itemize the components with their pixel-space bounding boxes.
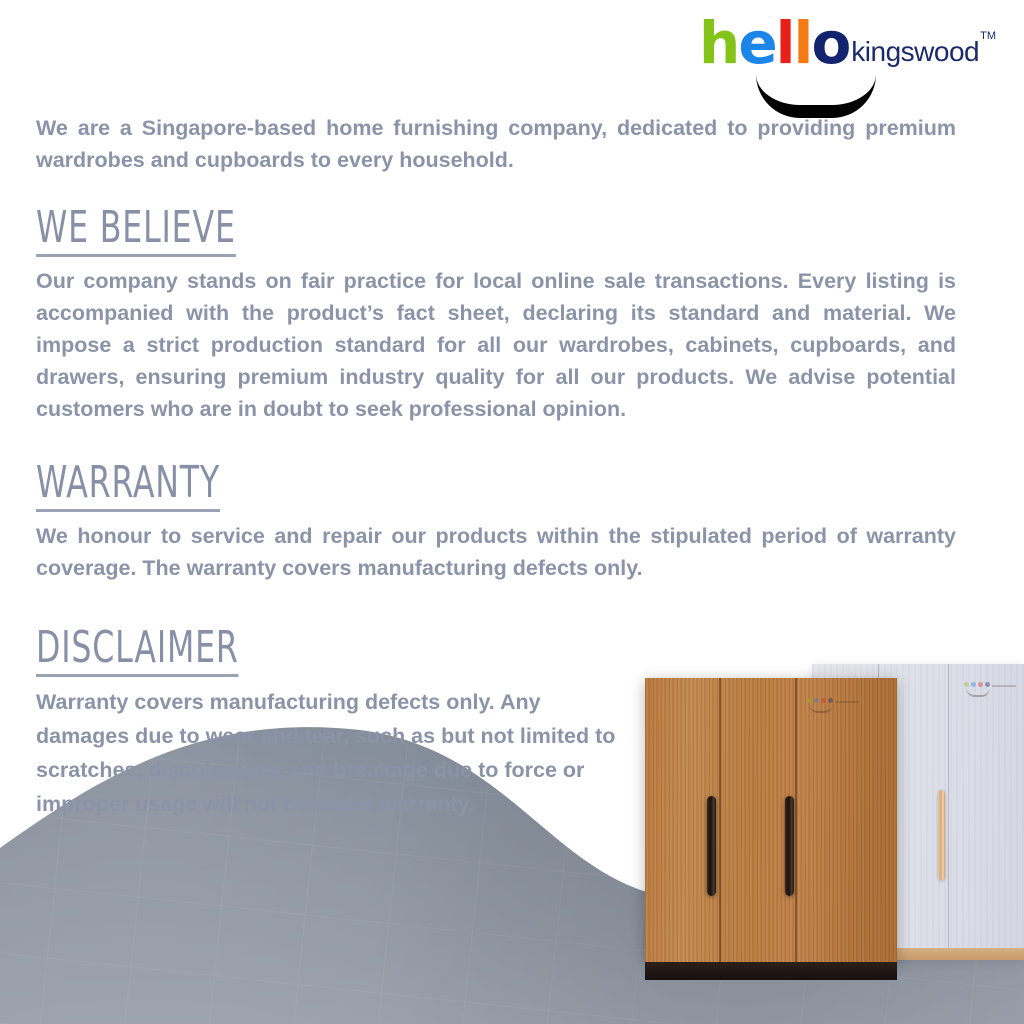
trademark-symbol: TM [980, 30, 996, 42]
wardrobe-white-logo-badge [962, 680, 1018, 700]
intro-paragraph: We are a Singapore-based home furnishing… [36, 112, 956, 176]
section-disclaimer: DISCLAIMER Warranty covers manufacturing… [36, 624, 956, 821]
section-warranty: WARRANTY We honour to service and repair… [36, 459, 956, 584]
heading-warranty: WARRANTY [36, 459, 220, 512]
brand-logo[interactable]: hello kingswood TM [696, 14, 996, 110]
logo-kingswood-text: kingswood [851, 36, 979, 68]
logo-hello-text: hello [699, 14, 849, 72]
heading-disclaimer: DISCLAIMER [36, 624, 239, 677]
body-warranty: We honour to service and repair our prod… [36, 520, 956, 584]
page-content: We are a Singapore-based home furnishing… [36, 112, 956, 827]
logo-letter-o: o [811, 14, 849, 72]
logo-wordmark: hello kingswood TM [699, 14, 996, 72]
logo-letter-h: h [699, 14, 738, 72]
body-we-believe: Our company stands on fair practice for … [36, 265, 956, 425]
logo-letter-l2: l [794, 14, 812, 72]
logo-letter-l1: l [776, 14, 794, 72]
logo-letter-e: e [738, 14, 775, 72]
section-we-believe: WE BELIEVE Our company stands on fair pr… [36, 204, 956, 425]
body-disclaimer: Warranty covers manufacturing defects on… [36, 685, 616, 821]
heading-we-believe: WE BELIEVE [36, 204, 236, 257]
wardrobe-wood-plinth [645, 962, 897, 980]
